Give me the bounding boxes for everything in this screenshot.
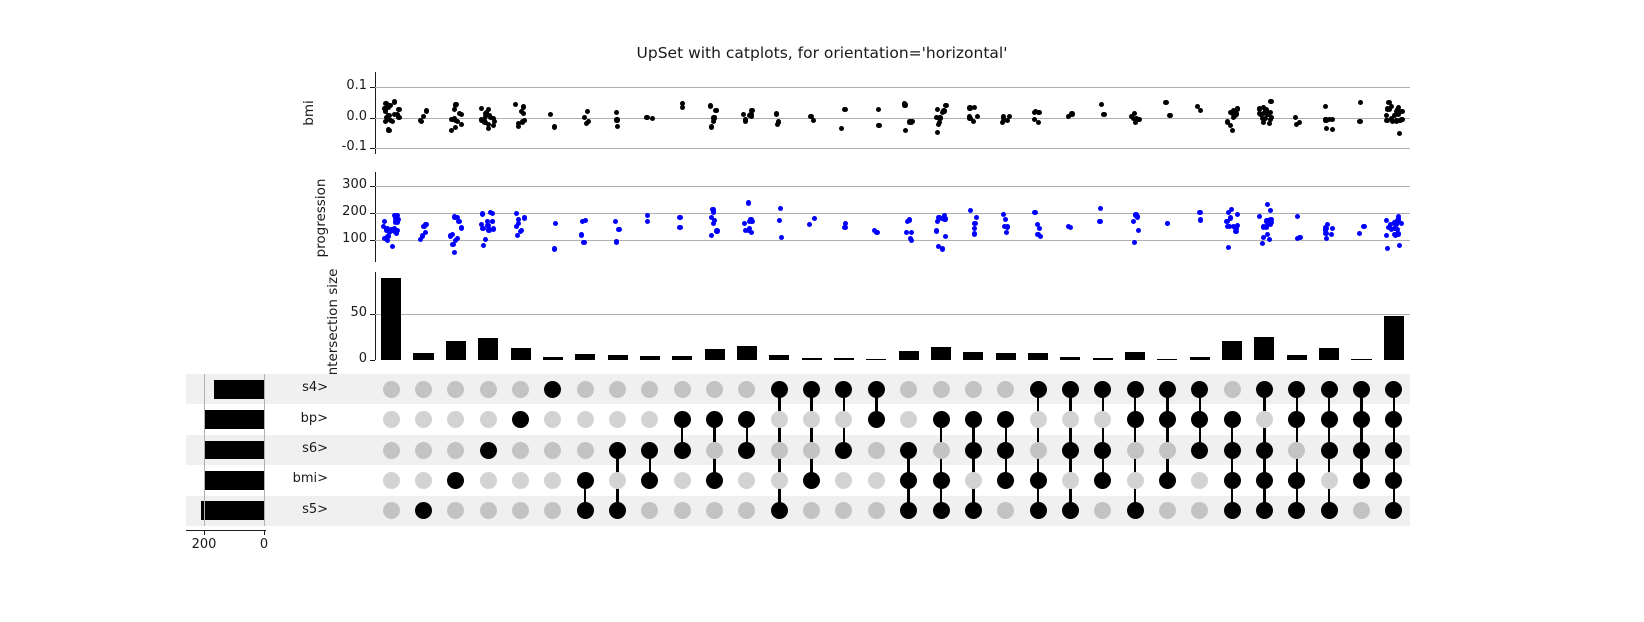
data-point [1330, 226, 1335, 231]
data-point [480, 211, 485, 216]
matrix-dot[interactable] [447, 381, 464, 398]
data-point [645, 219, 650, 224]
data-point [650, 116, 655, 121]
axis-tick-label: 0.1 [317, 78, 367, 93]
catplot-panel-progression [375, 172, 1410, 262]
intersection-bar [381, 278, 401, 360]
data-point [905, 219, 910, 224]
data-point [1294, 122, 1299, 127]
matrix-dot[interactable] [674, 472, 691, 489]
data-point [677, 225, 682, 230]
matrix-dot[interactable] [415, 442, 432, 459]
data-point [1235, 212, 1240, 217]
data-point [975, 114, 980, 119]
data-point [491, 123, 496, 128]
data-point [971, 119, 976, 124]
data-point [488, 115, 493, 120]
matrix-dot[interactable] [997, 442, 1014, 459]
data-point [382, 219, 387, 224]
data-point [1257, 214, 1262, 219]
data-point [680, 105, 685, 110]
matrix-connector [972, 420, 974, 511]
matrix-dot[interactable] [609, 381, 626, 398]
data-point [904, 230, 909, 235]
intersection-bar [963, 352, 983, 360]
matrix-row-label-s6: s6> [223, 441, 328, 456]
matrix-dot[interactable] [997, 381, 1014, 398]
axis-tick-label: 0 [238, 537, 290, 552]
matrix-dot[interactable] [383, 472, 400, 489]
data-point [1329, 232, 1334, 237]
catplot-panel-bmi [375, 72, 1410, 154]
matrix-dot[interactable] [1321, 442, 1338, 459]
matrix-dot[interactable] [1321, 381, 1338, 398]
matrix-dot[interactable] [803, 381, 820, 398]
data-point [1036, 110, 1041, 115]
data-point [909, 238, 914, 243]
matrix-dot[interactable] [1224, 411, 1241, 428]
matrix-dot[interactable] [1127, 442, 1144, 459]
matrix-dot[interactable] [415, 472, 432, 489]
data-point [419, 119, 424, 124]
intersection-bar [672, 356, 692, 360]
data-point [490, 219, 495, 224]
data-point [874, 230, 879, 235]
matrix-dot[interactable] [1224, 442, 1241, 459]
data-point [396, 107, 401, 112]
matrix-dot[interactable] [544, 442, 561, 459]
intersection-bar [511, 348, 531, 360]
matrix-dot[interactable] [1288, 442, 1305, 459]
data-point [937, 115, 942, 120]
data-point [1198, 217, 1203, 222]
matrix-dot[interactable] [1030, 472, 1047, 489]
data-point [1038, 234, 1043, 239]
matrix-dot[interactable] [900, 442, 917, 459]
matrix-dot[interactable] [1062, 472, 1079, 489]
matrix-dot[interactable] [771, 502, 788, 519]
data-point [514, 211, 519, 216]
intersection-bar [1287, 355, 1307, 360]
data-point [943, 234, 948, 239]
gridline [375, 314, 1410, 315]
matrix-dot[interactable] [577, 442, 594, 459]
intersection-bar [543, 357, 563, 360]
data-point [1097, 219, 1102, 224]
matrix-row-label-bmi: bmi> [223, 471, 328, 486]
matrix-dot[interactable] [1159, 411, 1176, 428]
matrix-dot[interactable] [480, 472, 497, 489]
data-point [513, 102, 518, 107]
matrix-dot[interactable] [577, 411, 594, 428]
data-point [548, 112, 553, 117]
data-point [903, 128, 908, 133]
data-point [392, 112, 397, 117]
matrix-dot[interactable] [1127, 411, 1144, 428]
data-point [807, 222, 812, 227]
data-point [1132, 111, 1137, 116]
matrix-dot[interactable] [1127, 381, 1144, 398]
intersection-bar [769, 355, 789, 360]
data-point [1101, 112, 1106, 117]
matrix-dot[interactable] [933, 411, 950, 428]
data-point [1295, 214, 1300, 219]
data-point [616, 227, 621, 232]
intersection-bar [1060, 357, 1080, 360]
matrix-dot[interactable] [868, 502, 885, 519]
matrix-connector [1102, 389, 1104, 480]
data-point [1399, 109, 1404, 114]
matrix-dot[interactable] [835, 442, 852, 459]
data-point [644, 115, 649, 120]
matrix-dot[interactable] [1224, 381, 1241, 398]
data-point [972, 226, 977, 231]
data-point [394, 230, 399, 235]
matrix-dot[interactable] [512, 442, 529, 459]
axis-tick-label: 100 [317, 231, 367, 246]
matrix-dot[interactable] [383, 502, 400, 519]
matrix-connector [1360, 389, 1362, 480]
axis-tick [370, 213, 375, 214]
matrix-dot[interactable] [1288, 381, 1305, 398]
data-point [1032, 210, 1037, 215]
data-point [713, 108, 718, 113]
matrix-dot[interactable] [1224, 502, 1241, 519]
matrix-dot[interactable] [1062, 442, 1079, 459]
matrix-dot[interactable] [803, 442, 820, 459]
data-point [1396, 216, 1401, 221]
matrix-dot[interactable] [1385, 442, 1402, 459]
axis-tick-label: 200 [317, 204, 367, 219]
data-point [449, 128, 454, 133]
data-point [1098, 206, 1103, 211]
data-point [615, 124, 620, 129]
data-point [385, 234, 390, 239]
matrix-dot[interactable] [1353, 472, 1370, 489]
matrix-dot[interactable] [706, 442, 723, 459]
data-point [485, 223, 490, 228]
matrix-dot[interactable] [868, 381, 885, 398]
matrix-dot[interactable] [738, 442, 755, 459]
matrix-dot[interactable] [512, 472, 529, 489]
data-point [552, 124, 557, 129]
data-point [518, 229, 523, 234]
data-point [778, 206, 783, 211]
matrix-dot[interactable] [641, 381, 658, 398]
matrix-dot[interactable] [771, 381, 788, 398]
data-point [481, 243, 486, 248]
matrix-dot[interactable] [577, 502, 594, 519]
intersection-bar [931, 347, 951, 360]
matrix-dot[interactable] [383, 381, 400, 398]
gridline [375, 118, 1410, 119]
data-point [935, 219, 940, 224]
data-point [742, 221, 747, 226]
matrix-dot[interactable] [480, 502, 497, 519]
axis-tick [370, 240, 375, 241]
data-point [1330, 127, 1335, 132]
matrix-dot[interactable] [900, 472, 917, 489]
data-point [1007, 114, 1012, 119]
matrix-dot[interactable] [674, 411, 691, 428]
matrix-row-label-s4: s4> [223, 380, 328, 395]
matrix-dot[interactable] [415, 411, 432, 428]
data-point [1265, 112, 1270, 117]
matrix-dot[interactable] [868, 442, 885, 459]
matrix-dot[interactable] [965, 442, 982, 459]
intersection-bar [834, 358, 854, 360]
matrix-dot[interactable] [577, 381, 594, 398]
matrix-dot[interactable] [674, 381, 691, 398]
intersection-matrix [264, 374, 1410, 526]
data-point [583, 218, 588, 223]
matrix-dot[interactable] [1353, 442, 1370, 459]
matrix-dot[interactable] [512, 381, 529, 398]
data-point [842, 225, 847, 230]
data-point [743, 119, 748, 124]
axis-tick-label: 50 [323, 305, 367, 320]
matrix-dot[interactable] [1321, 411, 1338, 428]
matrix-dot[interactable] [609, 472, 626, 489]
matrix-dot[interactable] [674, 502, 691, 519]
data-point [741, 112, 746, 117]
matrix-dot[interactable] [1256, 411, 1273, 428]
gridline [375, 148, 1410, 149]
matrix-dot[interactable] [641, 442, 658, 459]
data-point [1133, 120, 1138, 125]
data-point [1323, 117, 1328, 122]
data-point [579, 232, 584, 237]
data-point [940, 110, 945, 115]
axis-tick [370, 87, 375, 88]
data-point [711, 221, 716, 226]
data-point [1265, 202, 1270, 207]
matrix-dot[interactable] [1385, 381, 1402, 398]
matrix-dot[interactable] [1030, 381, 1047, 398]
data-point [1267, 121, 1272, 126]
matrix-dot[interactable] [1127, 472, 1144, 489]
matrix-dot[interactable] [1191, 381, 1208, 398]
matrix-dot[interactable] [1191, 442, 1208, 459]
axis-tick [370, 118, 375, 119]
intersection-bar [1351, 359, 1371, 361]
matrix-dot[interactable] [933, 442, 950, 459]
matrix-dot[interactable] [1127, 502, 1144, 519]
matrix-dot[interactable] [1159, 472, 1176, 489]
data-point [1267, 237, 1272, 242]
axis-tick-label: 300 [317, 177, 367, 192]
figure-title: UpSet with catplots, for orientation='ho… [0, 44, 1644, 62]
matrix-dot[interactable] [1321, 502, 1338, 519]
intersection-bar [1319, 348, 1339, 360]
matrix-dot[interactable] [674, 442, 691, 459]
data-point [393, 216, 398, 221]
data-point [614, 117, 619, 122]
axis-tick [370, 360, 375, 361]
matrix-dot[interactable] [1030, 411, 1047, 428]
matrix-dot[interactable] [447, 442, 464, 459]
gridline [375, 87, 1410, 88]
data-point [777, 218, 782, 223]
matrix-dot[interactable] [1224, 472, 1241, 489]
matrix-dot[interactable] [480, 381, 497, 398]
matrix-dot[interactable] [1062, 381, 1079, 398]
matrix-dot[interactable] [933, 381, 950, 398]
matrix-dot[interactable] [1094, 472, 1111, 489]
data-point [1324, 126, 1329, 131]
matrix-dot[interactable] [1094, 442, 1111, 459]
data-point [1230, 128, 1235, 133]
data-point [1066, 224, 1071, 229]
data-point [1198, 108, 1203, 113]
matrix-dot[interactable] [771, 472, 788, 489]
intersection-bar [575, 354, 595, 360]
matrix-dot[interactable] [1256, 381, 1273, 398]
matrix-dot[interactable] [706, 381, 723, 398]
intersection-bar [899, 351, 919, 360]
data-point [613, 219, 618, 224]
data-point [390, 244, 395, 249]
data-point [1235, 106, 1240, 111]
data-point [1036, 120, 1041, 125]
matrix-row-label-bp: bp> [223, 411, 328, 426]
matrix-dot[interactable] [1159, 381, 1176, 398]
matrix-dot[interactable] [512, 411, 529, 428]
data-point [452, 107, 457, 112]
data-point [935, 107, 940, 112]
data-point [1037, 226, 1042, 231]
data-point [1361, 224, 1366, 229]
matrix-dot[interactable] [965, 411, 982, 428]
intersection-bar [802, 358, 822, 360]
data-point [387, 103, 392, 108]
matrix-dot[interactable] [1094, 381, 1111, 398]
axis-tick [370, 186, 375, 187]
data-point [1330, 117, 1335, 122]
axis-tick-label: 200 [178, 537, 230, 552]
data-point [519, 109, 524, 114]
matrix-dot[interactable] [933, 502, 950, 519]
matrix-dot[interactable] [1321, 472, 1338, 489]
axis-tick [370, 314, 375, 315]
intersection-bar [737, 346, 757, 360]
catplot-bmi-ylabel: bmi [301, 93, 317, 133]
matrix-dot[interactable] [1030, 442, 1047, 459]
data-point [936, 244, 941, 249]
intersection-bar [1222, 341, 1242, 360]
matrix-dot[interactable] [771, 411, 788, 428]
intersection-bar [996, 353, 1016, 360]
data-point [1004, 230, 1009, 235]
data-point [1384, 233, 1389, 238]
matrix-dot[interactable] [868, 472, 885, 489]
data-point [459, 225, 464, 230]
data-point [552, 246, 557, 251]
data-point [1323, 104, 1328, 109]
data-point [586, 119, 591, 124]
intersection-bar [478, 338, 498, 360]
data-point [614, 239, 619, 244]
intersection-bar [640, 356, 660, 360]
data-point [1099, 102, 1104, 107]
matrix-dot[interactable] [1353, 381, 1370, 398]
gridline [375, 240, 1410, 241]
data-point [775, 122, 780, 127]
axis-tick [204, 530, 205, 535]
matrix-dot[interactable] [706, 472, 723, 489]
data-point [1399, 117, 1404, 122]
data-point [812, 216, 817, 221]
data-point [484, 110, 489, 115]
matrix-dot[interactable] [965, 472, 982, 489]
intersection-bar [413, 353, 433, 360]
matrix-dot[interactable] [1030, 502, 1047, 519]
data-point [516, 221, 521, 226]
matrix-dot[interactable] [868, 411, 885, 428]
matrix-dot[interactable] [965, 381, 982, 398]
matrix-dot[interactable] [1353, 411, 1370, 428]
axis-tick [370, 148, 375, 149]
data-point [1167, 113, 1172, 118]
matrix-dot[interactable] [415, 381, 432, 398]
matrix-dot[interactable] [383, 411, 400, 428]
data-point [1268, 217, 1273, 222]
data-point [1132, 240, 1137, 245]
data-point [709, 233, 714, 238]
data-point [1069, 111, 1074, 116]
data-point [645, 213, 650, 218]
axis-spine [375, 272, 376, 360]
gridline [204, 374, 205, 526]
matrix-dot[interactable] [1062, 411, 1079, 428]
data-point [709, 124, 714, 129]
matrix-dot[interactable] [803, 472, 820, 489]
matrix-dot[interactable] [997, 472, 1014, 489]
data-point [581, 240, 586, 245]
data-point [943, 103, 948, 108]
matrix-dot[interactable] [480, 411, 497, 428]
data-point [1389, 104, 1394, 109]
intersection-bar [1190, 357, 1210, 360]
matrix-dot[interactable] [1256, 442, 1273, 459]
matrix-dot[interactable] [609, 442, 626, 459]
data-point [1385, 246, 1390, 251]
matrix-dot[interactable] [544, 381, 561, 398]
matrix-dot[interactable] [771, 442, 788, 459]
data-point [1268, 99, 1273, 104]
data-point [1131, 219, 1136, 224]
data-point [386, 113, 391, 118]
data-point [1163, 100, 1168, 105]
matrix-dot[interactable] [933, 472, 950, 489]
axis-spine [375, 72, 376, 154]
matrix-dot[interactable] [383, 442, 400, 459]
data-point [842, 107, 847, 112]
data-point [1357, 119, 1362, 124]
data-point [876, 123, 881, 128]
data-point [1399, 221, 1404, 226]
matrix-dot[interactable] [480, 442, 497, 459]
data-point [746, 200, 751, 205]
matrix-dot[interactable] [1159, 442, 1176, 459]
matrix-dot[interactable] [577, 472, 594, 489]
data-point [972, 221, 977, 226]
intersection-bar [1028, 353, 1048, 360]
matrix-dot[interactable] [900, 381, 917, 398]
matrix-dot[interactable] [1256, 472, 1273, 489]
data-point [1165, 221, 1170, 226]
matrix-connector [940, 420, 942, 511]
